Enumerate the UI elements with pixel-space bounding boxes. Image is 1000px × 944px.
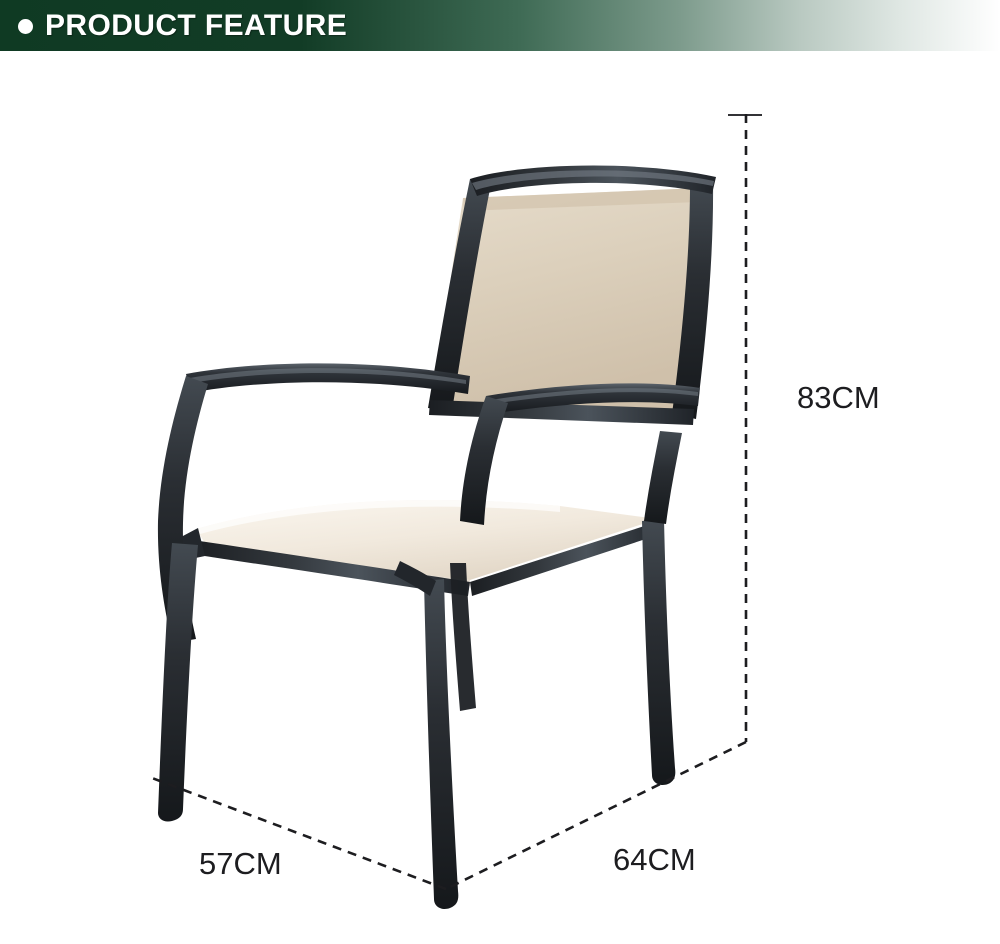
page-title: PRODUCT FEATURE [45,9,347,43]
chair-illustration [0,51,1000,944]
rear-right-upright [644,431,682,524]
front-right-leg [424,579,458,909]
depth-dimension-label: 64CM [613,842,696,878]
product-feature-header: PRODUCT FEATURE [0,0,1000,51]
rear-right-leg [642,519,675,785]
product-image-stage: 83CM 57CM 64CM [0,51,1000,944]
width-dimension-label: 57CM [199,846,282,882]
bullet-dot-icon [18,19,33,34]
header-content: PRODUCT FEATURE [18,0,347,51]
seat-fabric [196,500,658,586]
height-dimension-label: 83CM [797,380,880,416]
